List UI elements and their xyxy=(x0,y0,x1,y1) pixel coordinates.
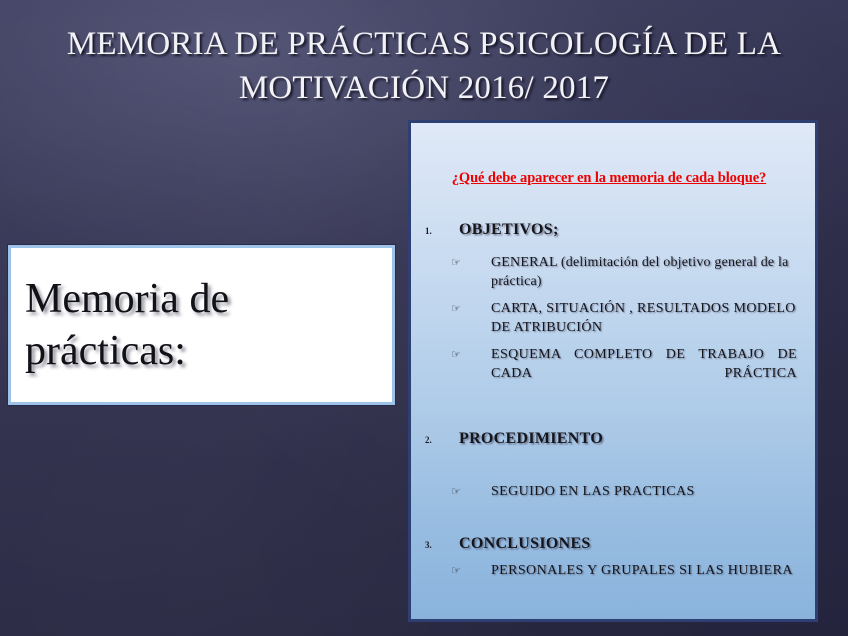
section-label-objetivos: OBJETIVOS; xyxy=(459,221,559,239)
section-label-conclusiones: CONCLUSIONES xyxy=(459,535,591,553)
content-box: ¿Qué debe aparecer en la memoria de cada… xyxy=(408,120,818,622)
section-marker-2: 2. xyxy=(415,435,459,445)
bullet-text-personales: PERSONALES Y GRUPALES SI LAS HUBIERA xyxy=(491,561,803,580)
bullet-row-carta: ☞ CARTA, SITUACIÓN , RESULTADOS MODELO D… xyxy=(415,299,803,337)
hand-pointer-icon: ☞ xyxy=(415,253,491,272)
memoria-title-box: Memoria de prácticas: xyxy=(8,245,395,405)
bullet-row-personales: ☞ PERSONALES Y GRUPALES SI LAS HUBIERA xyxy=(415,561,803,580)
bullet-text-seguido: SEGUIDO EN LAS PRACTICAS xyxy=(491,482,803,501)
section-row-procedimiento: 2. PROCEDIMIENTO xyxy=(415,430,803,448)
section-row-conclusiones: 3. CONCLUSIONES xyxy=(415,535,803,553)
memoria-title-text: Memoria de prácticas: xyxy=(25,273,378,377)
slide-title-line-2: MOTIVACIÓN 2016/ 2017 xyxy=(18,66,830,110)
hand-pointer-icon: ☞ xyxy=(415,299,491,318)
bullet-text-carta: CARTA, SITUACIÓN , RESULTADOS MODELO DE … xyxy=(491,299,803,337)
slide-title: MEMORIA DE PRÁCTICAS PSICOLOGÍA DE LA MO… xyxy=(18,22,830,110)
hand-pointer-icon: ☞ xyxy=(415,482,491,501)
section-label-procedimiento: PROCEDIMIENTO xyxy=(459,430,603,448)
bullet-row-esquema: ☞ ESQUEMA COMPLETO DE TRABAJO DE CADA PR… xyxy=(415,345,803,402)
section-marker-1: 1. xyxy=(415,226,459,236)
section-row-objetivos: 1. OBJETIVOS; xyxy=(415,221,803,239)
hand-pointer-icon: ☞ xyxy=(415,345,491,364)
bullet-row-seguido: ☞ SEGUIDO EN LAS PRACTICAS xyxy=(415,482,803,501)
bullet-text-esquema: ESQUEMA COMPLETO DE TRABAJO DE CADA PRÁC… xyxy=(491,345,803,402)
section-marker-3: 3. xyxy=(415,540,459,550)
presentation-slide: MEMORIA DE PRÁCTICAS PSICOLOGÍA DE LA MO… xyxy=(0,0,848,636)
slide-title-line-1: MEMORIA DE PRÁCTICAS PSICOLOGÍA DE LA xyxy=(18,22,830,66)
bullet-row-general: ☞ GENERAL (delimitación del objetivo gen… xyxy=(415,253,803,291)
hand-pointer-icon: ☞ xyxy=(415,561,491,580)
question-heading: ¿Qué debe aparecer en la memoria de cada… xyxy=(419,170,799,187)
bullet-text-general: GENERAL (delimitación del objetivo gener… xyxy=(491,253,803,291)
